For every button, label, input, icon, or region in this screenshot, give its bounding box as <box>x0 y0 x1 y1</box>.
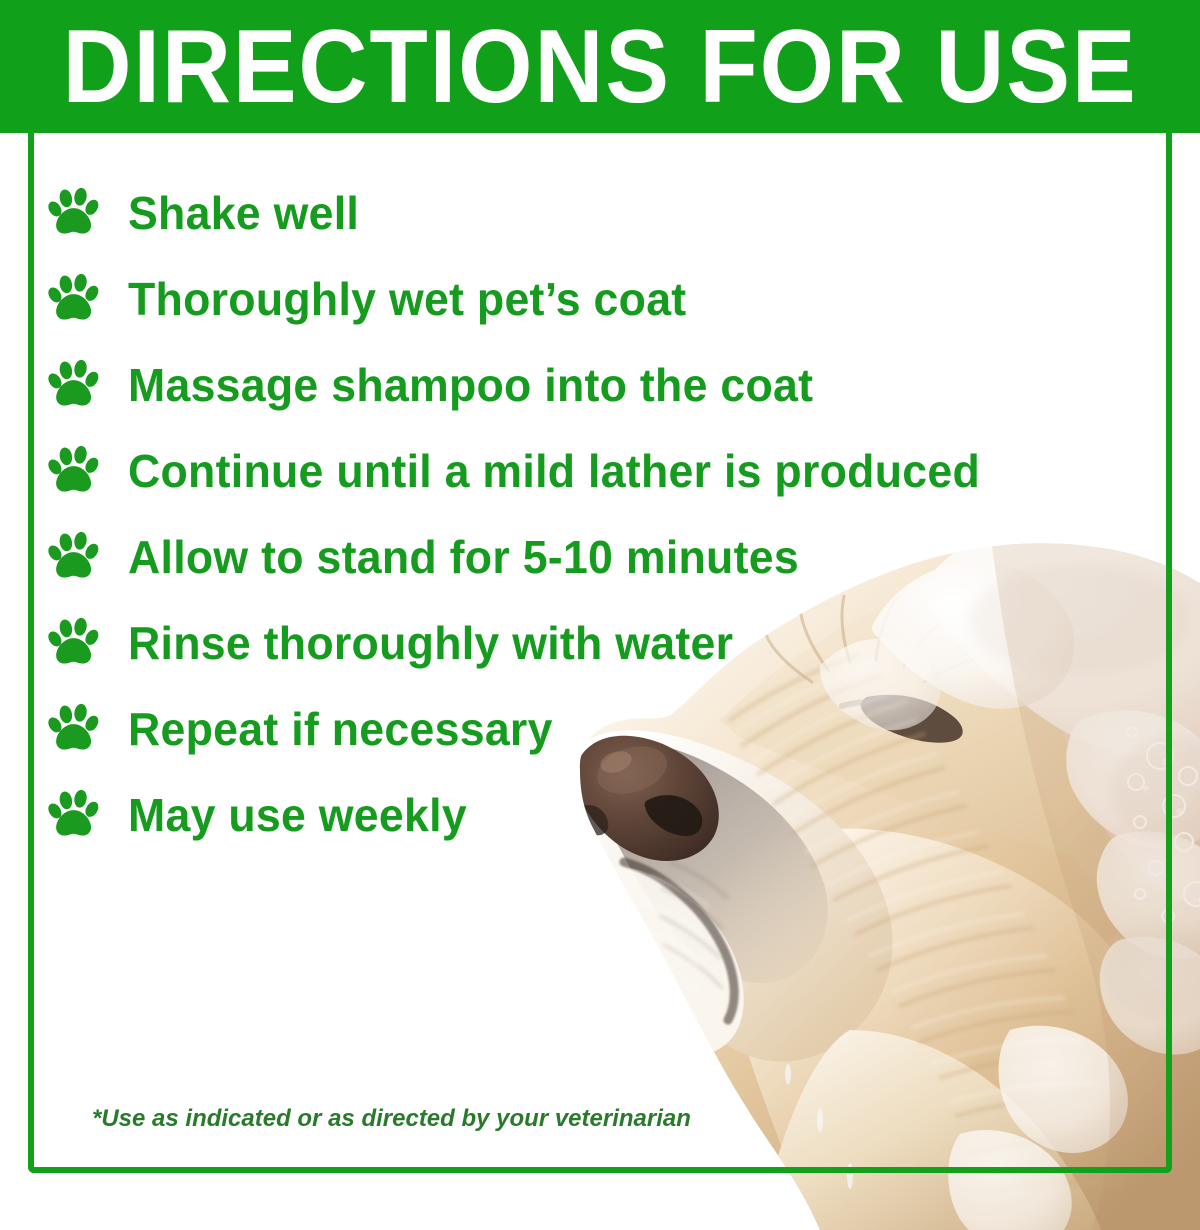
directions-for-use-poster: DIRECTIONS FOR USE <box>0 0 1200 1200</box>
list-item: Rinse thoroughly with water <box>48 600 1048 686</box>
paw-print-icon <box>48 445 100 497</box>
footnote-text: *Use as indicated or as directed by your… <box>92 1105 691 1133</box>
paw-print-icon <box>48 187 100 239</box>
list-item-label: Allow to stand for 5-10 minutes <box>128 534 799 580</box>
list-item: Thoroughly wet pet’s coat <box>48 256 1048 342</box>
paw-print-icon <box>48 531 100 583</box>
list-item: Continue until a mild lather is produced <box>48 428 1048 514</box>
list-item-label: Repeat if necessary <box>128 706 553 752</box>
list-item: Repeat if necessary <box>48 686 1048 772</box>
list-item: Allow to stand for 5-10 minutes <box>48 514 1048 600</box>
paw-print-icon <box>48 359 100 411</box>
paw-print-icon <box>48 789 100 841</box>
list-item-label: Continue until a mild lather is produced <box>128 448 980 494</box>
list-item: May use weekly <box>48 772 1048 858</box>
list-item-label: Massage shampoo into the coat <box>128 362 813 408</box>
list-item: Massage shampoo into the coat <box>48 342 1048 428</box>
header-banner: DIRECTIONS FOR USE <box>0 0 1200 133</box>
list-item-label: May use weekly <box>128 792 467 838</box>
page-title: DIRECTIONS FOR USE <box>48 15 1152 119</box>
directions-list: Shake well Thoroughly wet pet’s coat <box>48 170 1048 858</box>
list-item-label: Rinse thoroughly with water <box>128 620 733 666</box>
list-item-label: Shake well <box>128 190 359 236</box>
paw-print-icon <box>48 703 100 755</box>
paw-print-icon <box>48 617 100 669</box>
paw-print-icon <box>48 273 100 325</box>
list-item: Shake well <box>48 170 1048 256</box>
list-item-label: Thoroughly wet pet’s coat <box>128 276 686 322</box>
